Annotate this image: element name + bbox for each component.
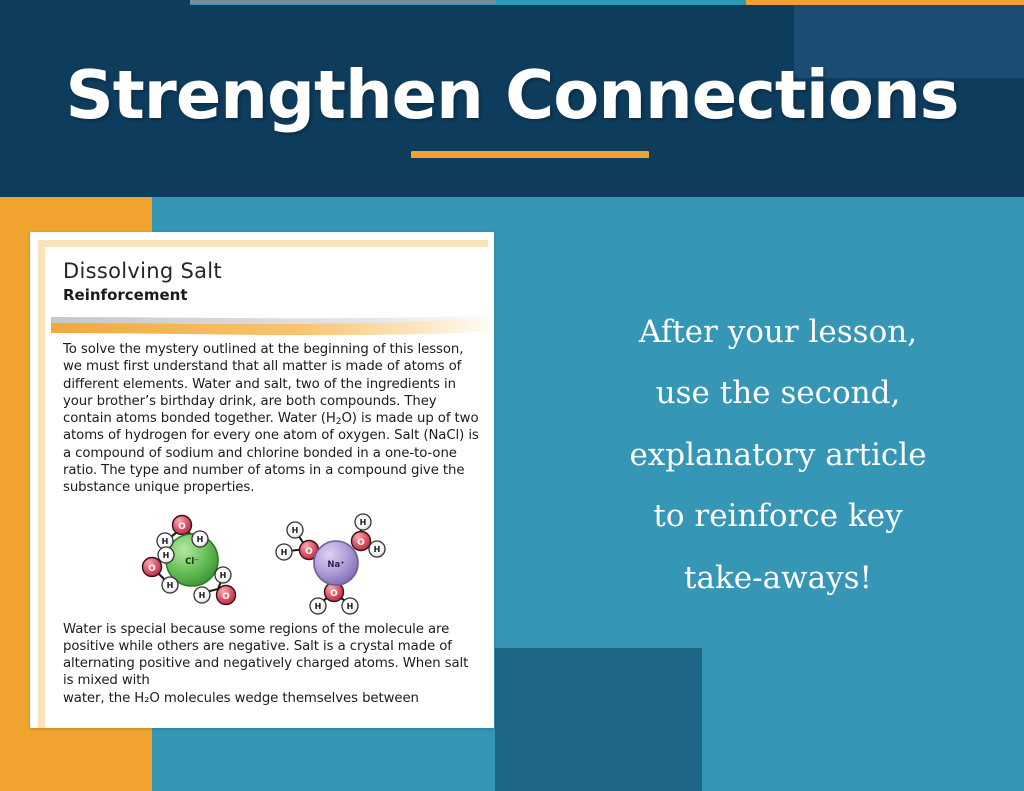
svg-text:H: H [162,551,169,560]
callout-line-4: to reinforce key [545,486,1011,547]
worksheet-header: Dissolving Salt Reinforcement [51,247,488,329]
svg-text:O: O [330,589,338,599]
svg-text:O: O [222,592,230,602]
svg-text:O: O [148,564,156,574]
callout-text: After your lesson, use the second, expla… [545,302,1011,609]
subscript-2: 2 [336,417,342,427]
worksheet-paragraph-1: To solve the mystery outlined at the beg… [63,341,480,497]
svg-text:H: H [198,591,205,600]
svg-text:O: O [357,538,365,548]
bottom-dark-panel [495,648,702,791]
svg-text:H: H [219,571,226,580]
top-accent-bar-gray [190,0,496,4]
worksheet-paragraph-2: Water is special because some regions of… [63,621,480,690]
callout-line-5: take-aways! [545,548,1011,609]
header-swoosh-decoration [51,315,488,341]
callout-line-3: explanatory article [545,425,1011,486]
svg-text:H: H [346,602,353,611]
svg-text:H: H [280,548,287,557]
worksheet-card[interactable]: Dissolving Salt Reinforcement [30,232,494,728]
svg-text:H: H [166,581,173,590]
svg-text:H: H [161,537,168,546]
worksheet-sheet: Dissolving Salt Reinforcement [51,247,488,728]
svg-text:Na⁺: Na⁺ [327,560,344,570]
svg-text:O: O [305,547,313,557]
svg-text:H: H [359,518,366,527]
callout-line-1: After your lesson, [545,302,1011,363]
page-title: Strengthen Connections [0,62,1024,129]
worksheet-body: To solve the mystery outlined at the beg… [51,329,488,707]
svg-text:H: H [196,535,203,544]
title-underline-rule [411,151,649,158]
worksheet-subtitle: Reinforcement [63,286,478,304]
worksheet-paragraph-3-clipped: water, the H₂O molecules wedge themselve… [63,690,480,707]
svg-text:O: O [178,522,186,532]
worksheet-title: Dissolving Salt [63,259,478,283]
molecule-figure: O O O Cl⁻ H H H H H H [63,505,480,617]
svg-text:H: H [373,545,380,554]
worksheet-card-inner-border: Dissolving Salt Reinforcement [38,240,488,728]
page-title-wrapper: Strengthen Connections [0,62,1024,129]
callout-line-2: use the second, [545,363,1011,424]
svg-text:Cl⁻: Cl⁻ [185,557,199,567]
svg-text:H: H [291,526,298,535]
svg-text:H: H [314,602,321,611]
